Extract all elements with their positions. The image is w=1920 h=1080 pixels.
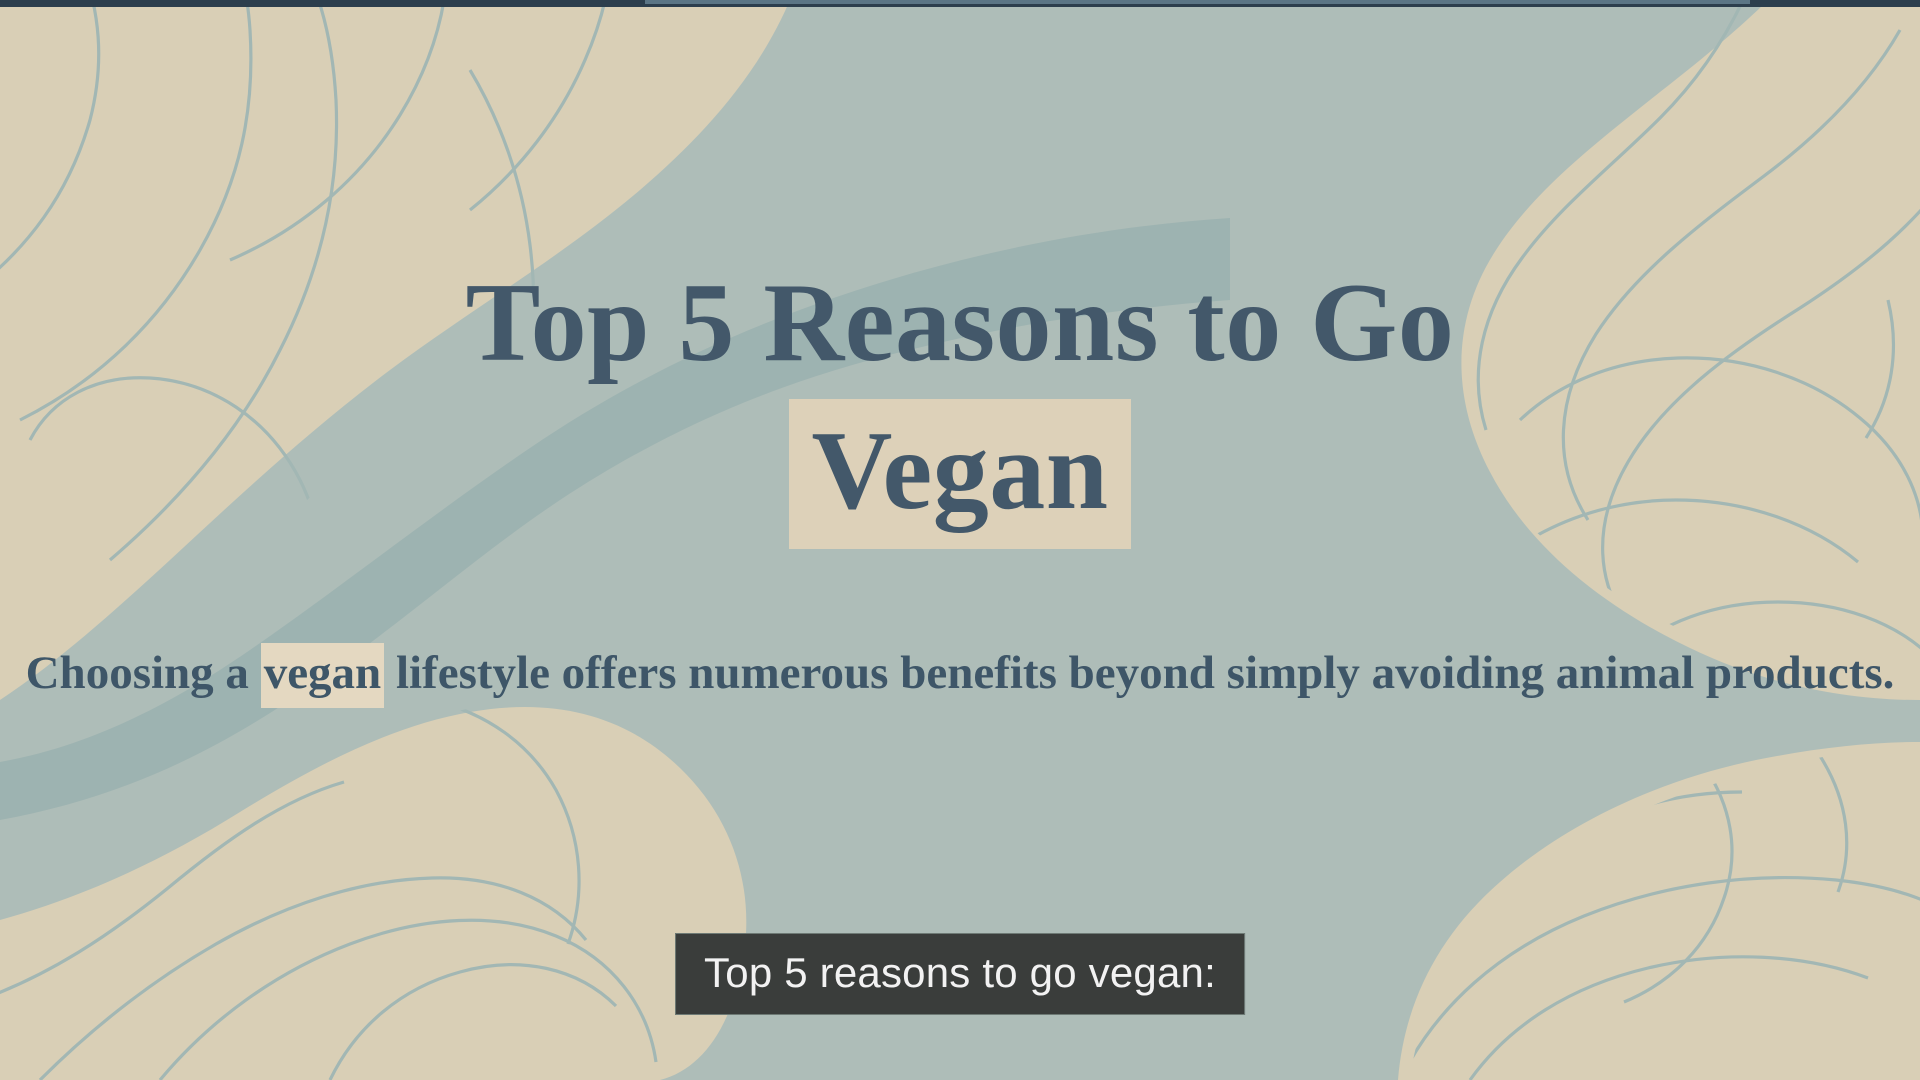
title-line-primary: Top 5 Reasons to Go	[0, 264, 1920, 382]
caption-box: Top 5 reasons to go vegan:	[675, 933, 1245, 1015]
slide-canvas: Top 5 Reasons to Go Vegan Choosing a veg…	[0, 0, 1920, 1080]
title-line-secondary: Vegan	[0, 412, 1920, 530]
title-highlight-vegan: Vegan	[789, 399, 1130, 549]
subtitle-text-before: Choosing a	[26, 647, 261, 699]
page-title: Top 5 Reasons to Go Vegan	[0, 264, 1920, 530]
slide-content: Top 5 Reasons to Go Vegan Choosing a veg…	[0, 0, 1920, 1080]
subtitle-text-after: lifestyle offers numerous benefits beyon…	[384, 647, 1894, 699]
subtitle-highlight-vegan: vegan	[261, 643, 385, 708]
subtitle: Choosing a vegan lifestyle offers numero…	[0, 645, 1920, 702]
caption-text: Top 5 reasons to go vegan:	[704, 950, 1216, 996]
